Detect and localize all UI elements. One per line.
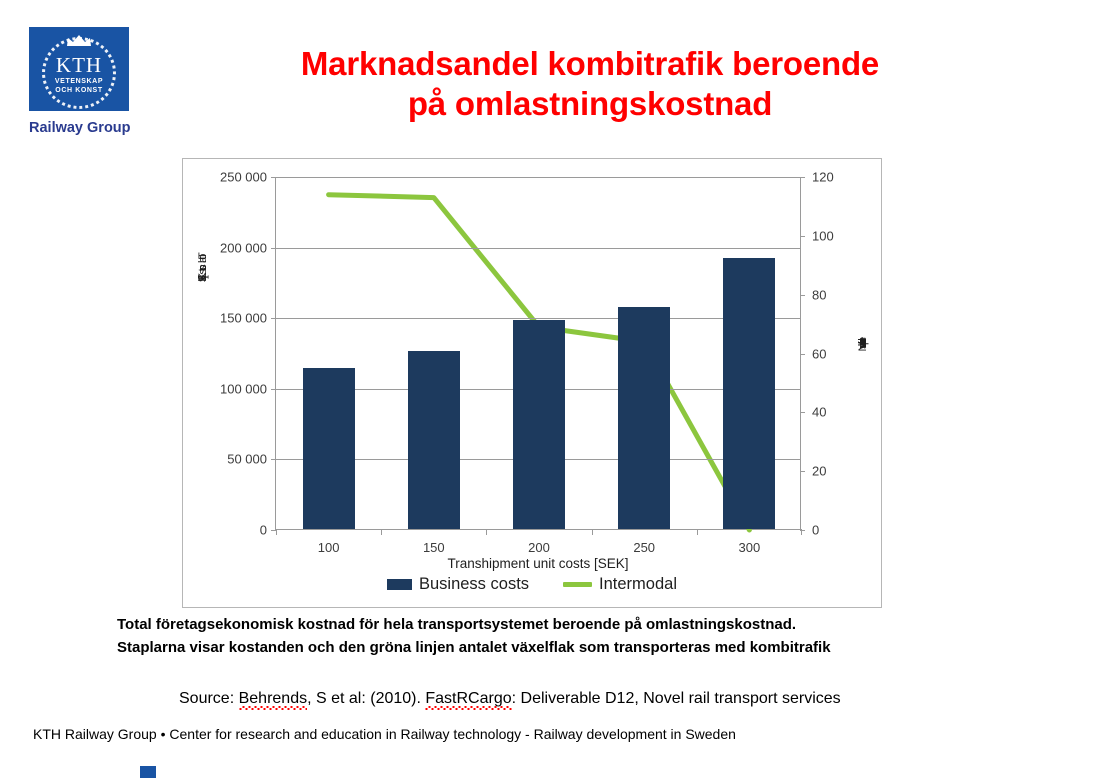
x-axis-tick-label: 200 [528, 540, 550, 555]
y-axis-right-tick-mark [800, 471, 805, 472]
source-author: Behrends [239, 690, 308, 710]
kth-motto: VETENSKAP OCH KONST [29, 77, 129, 95]
kth-motto-line1: VETENSKAP [29, 77, 129, 86]
footer-text: KTH Railway Group • Center for research … [33, 726, 736, 742]
x-axis-tick-mark [697, 529, 698, 535]
kth-logo: KTH VETENSKAP OCH KONST [29, 27, 129, 111]
x-axis-tick-label: 300 [739, 540, 761, 555]
footer-accent-swatch [140, 766, 156, 778]
y-axis-right-tick-label: 100 [812, 228, 834, 243]
kth-wordmark: KTH [29, 55, 129, 76]
x-axis-tick-label: 250 [633, 540, 655, 555]
y-axis-tick-label: 150 000 [220, 311, 267, 326]
y-axis-tick-mark [271, 318, 276, 319]
source-middle: , S et al: (2010). [307, 690, 425, 707]
x-axis-tick-mark [276, 529, 277, 535]
gridline [276, 318, 800, 319]
y-axis-tick-label: 200 000 [220, 240, 267, 255]
chart-caption: Total företagsekonomisk kostnad för hela… [117, 613, 997, 659]
y-axis-right-tick-mark [800, 236, 805, 237]
y-axis-right-tick-label: 120 [812, 170, 834, 185]
source-prefix: Source: [179, 690, 239, 707]
x-axis-tick-mark [381, 529, 382, 535]
legend-swatch-line-icon [563, 582, 592, 587]
page-title-line1: Marknadsandel kombitrafik beroende [170, 44, 1010, 84]
y-axis-right-tick-label: 60 [812, 346, 826, 361]
x-axis-tick-mark [486, 529, 487, 535]
gridline [276, 248, 800, 249]
railway-group-label: Railway Group [29, 120, 134, 136]
bar-business-costs[interactable] [303, 368, 355, 529]
page-title-line2: på omlastningskostnad [170, 84, 1010, 124]
kth-motto-line2: OCH KONST [29, 86, 129, 95]
y-axis-right-tick-label: 20 [812, 464, 826, 479]
y-axis-right-tick-label: 40 [812, 405, 826, 420]
legend-item-business-costs[interactable]: Business costs [387, 575, 529, 594]
bar-business-costs[interactable] [723, 258, 775, 529]
chart-legend: Business costs Intermodal [183, 575, 881, 594]
y-axis-tick-label: 250 000 [220, 170, 267, 185]
y-axis-tick-label: 50 000 [227, 452, 267, 467]
source-project: FastRCargo [425, 690, 511, 710]
y-axis-tick-label: 100 000 [220, 381, 267, 396]
legend-label-intermodal: Intermodal [599, 575, 677, 594]
y-axis-tick-mark [271, 177, 276, 178]
y-axis-title-right: Number of swap bodies [857, 345, 869, 351]
y-axis-tick-mark [271, 248, 276, 249]
y-axis-right-tick-label: 0 [812, 523, 819, 538]
y-axis-tick-mark [271, 389, 276, 390]
bar-business-costs[interactable] [513, 320, 565, 529]
x-axis-tick-mark [592, 529, 593, 535]
y-axis-right-tick-mark [800, 354, 805, 355]
y-axis-right-tick-mark [800, 295, 805, 296]
source-line: Source: Behrends, S et al: (2010). FastR… [179, 690, 841, 708]
legend-item-intermodal[interactable]: Intermodal [563, 575, 677, 594]
legend-label-business-costs: Business costs [419, 575, 529, 594]
x-axis-tick-label: 100 [318, 540, 340, 555]
bar-business-costs[interactable] [618, 307, 670, 529]
x-axis-tick-mark [801, 529, 802, 535]
y-axis-right-tick-label: 80 [812, 287, 826, 302]
bar-business-costs[interactable] [408, 351, 460, 529]
source-suffix: : Deliverable D12, Novel rail transport … [512, 690, 841, 707]
y-axis-right-tick-mark [800, 177, 805, 178]
legend-swatch-bar-icon [387, 579, 412, 590]
gridline [276, 177, 800, 178]
chart-container: Total costs [kSEK] Number of swap bodies… [182, 158, 882, 608]
x-axis-tick-label: 150 [423, 540, 445, 555]
chart-caption-line1: Total företagsekonomisk kostnad för hela… [117, 613, 997, 636]
y-axis-tick-mark [271, 459, 276, 460]
chart-caption-line2: Staplarna visar kostanden och den gröna … [117, 636, 997, 659]
page-title: Marknadsandel kombitrafik beroende på om… [170, 44, 1010, 124]
logo-block: KTH VETENSKAP OCH KONST Railway Group [29, 27, 134, 136]
y-axis-tick-label: 0 [260, 523, 267, 538]
x-axis-title: Transhipment unit costs [SEK] [275, 556, 801, 571]
plot-area: 050 000100 000150 000200 000250 00002040… [275, 177, 801, 530]
y-axis-right-tick-mark [800, 412, 805, 413]
